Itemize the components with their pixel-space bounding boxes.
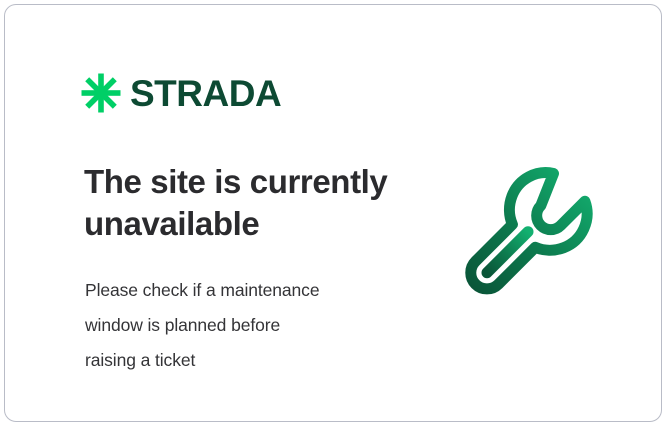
brand-wordmark: STRADA bbox=[130, 75, 281, 112]
wrench-icon bbox=[457, 157, 617, 317]
brand-logo: STRADA bbox=[81, 73, 281, 113]
status-message-line: Please check if a maintenance bbox=[85, 273, 395, 308]
status-card: STRADA The site is currently unavailable… bbox=[4, 4, 662, 422]
status-message-line: raising a ticket bbox=[85, 343, 395, 378]
strada-asterisk-mark-icon bbox=[81, 73, 121, 113]
status-message: Please check if a maintenance window is … bbox=[85, 273, 395, 378]
page-title: The site is currently unavailable bbox=[84, 161, 414, 244]
status-message-line: window is planned before bbox=[85, 308, 395, 343]
